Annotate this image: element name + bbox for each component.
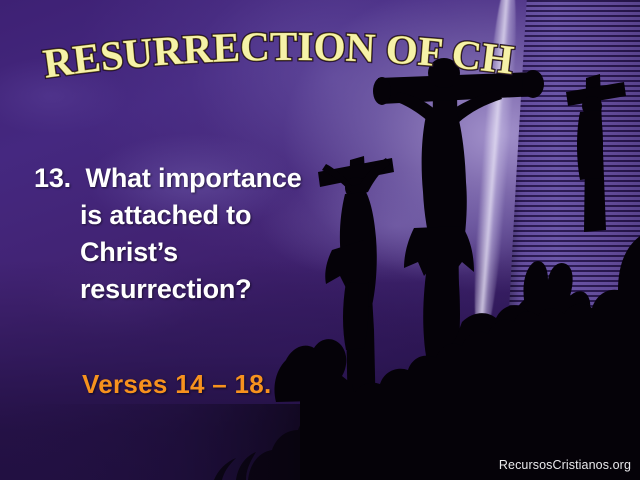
question-text-block: 13. What importance is attached to Chris… xyxy=(34,160,394,308)
watermark-text: RecursosCristianos.org xyxy=(499,458,631,472)
slide-canvas: THE RESURRECTION OF CHRIST THE RESURRECT… xyxy=(0,0,640,480)
question-line-3: Christ’s xyxy=(34,234,394,271)
right-figure-torso xyxy=(577,110,603,180)
question-line-2: is attached to xyxy=(34,197,394,234)
cross-arm-cap-right xyxy=(522,70,544,98)
cross-arm-cap-left xyxy=(373,77,391,105)
question-line-4: resurrection? xyxy=(34,271,394,308)
center-figure-head xyxy=(428,58,460,88)
verses-reference: Verses 14 – 18. xyxy=(82,369,272,400)
question-line-1: 13. What importance xyxy=(34,160,394,197)
